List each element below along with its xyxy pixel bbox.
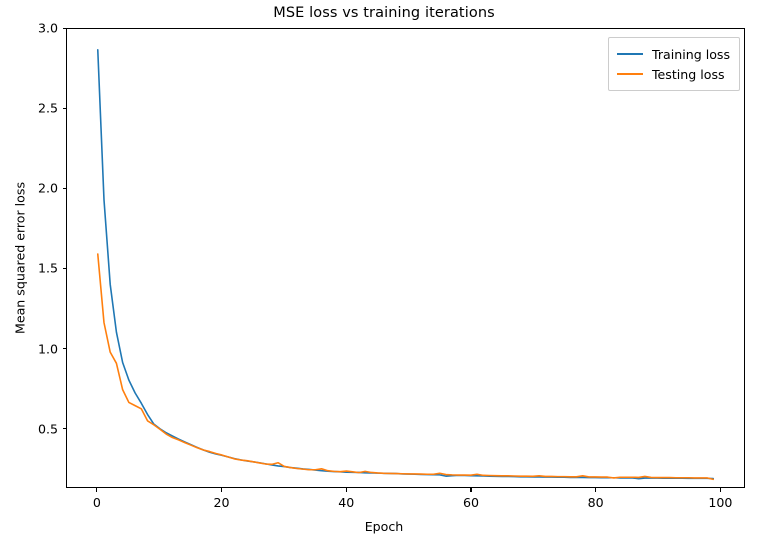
legend: Training lossTesting loss bbox=[608, 37, 740, 91]
y-tick-label: 3.0 bbox=[18, 21, 58, 36]
legend-item-2: Testing loss bbox=[617, 64, 730, 84]
legend-swatch-icon bbox=[617, 53, 643, 55]
x-tick-mark bbox=[470, 488, 471, 492]
y-tick-label: 2.5 bbox=[18, 101, 58, 116]
series-line-2 bbox=[98, 254, 713, 479]
x-tick-label: 100 bbox=[708, 495, 732, 510]
legend-label: Testing loss bbox=[652, 67, 725, 82]
x-tick-label: 0 bbox=[93, 495, 101, 510]
chart-figure: MSE loss vs training iterations Mean squ… bbox=[0, 0, 768, 547]
y-tick-label: 0.5 bbox=[18, 421, 58, 436]
page-title: MSE loss vs training iterations bbox=[0, 5, 768, 21]
x-tick-label: 40 bbox=[338, 495, 354, 510]
y-axis-label: Mean squared error loss bbox=[13, 182, 28, 334]
x-tick-mark bbox=[346, 488, 347, 492]
x-tick-mark bbox=[96, 488, 97, 492]
x-tick-label: 20 bbox=[214, 495, 230, 510]
x-tick-mark bbox=[720, 488, 721, 492]
x-tick-label: 60 bbox=[463, 495, 479, 510]
x-tick-mark bbox=[595, 488, 596, 492]
y-tick-label: 2.0 bbox=[18, 181, 58, 196]
series-line-1 bbox=[98, 50, 713, 479]
line-plot bbox=[67, 29, 744, 487]
x-tick-mark bbox=[221, 488, 222, 492]
y-tick-label: 1.5 bbox=[18, 261, 58, 276]
legend-label: Training loss bbox=[652, 47, 730, 62]
y-tick-label: 1.0 bbox=[18, 341, 58, 356]
x-tick-label: 80 bbox=[588, 495, 604, 510]
legend-swatch-icon bbox=[617, 73, 643, 75]
x-axis-label: Epoch bbox=[0, 519, 768, 534]
plot-area bbox=[66, 28, 745, 488]
legend-item-1: Training loss bbox=[617, 44, 730, 64]
